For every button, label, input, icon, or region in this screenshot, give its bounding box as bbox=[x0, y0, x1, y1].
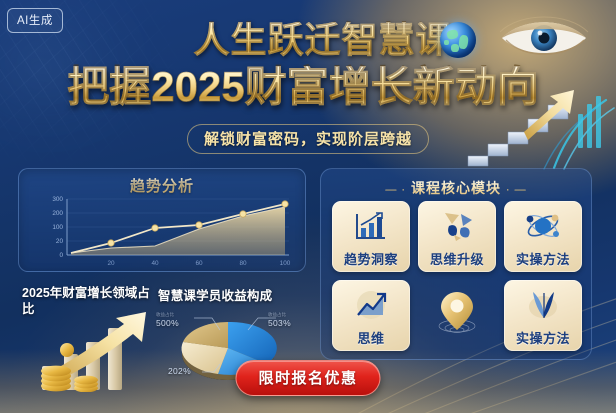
svg-text:20: 20 bbox=[107, 260, 115, 267]
svg-text:40: 40 bbox=[151, 260, 159, 267]
module-label-1: 思维升级 bbox=[430, 249, 484, 268]
module-label-0: 趋势洞察 bbox=[344, 249, 398, 268]
svg-text:100: 100 bbox=[52, 224, 63, 231]
trend-analysis-panel: 趋势分析 300200 10020 bbox=[18, 168, 306, 272]
svg-text:0: 0 bbox=[59, 252, 63, 259]
bar-chart-growth-icon bbox=[332, 207, 410, 245]
svg-text:80: 80 bbox=[239, 260, 247, 267]
svg-text:300: 300 bbox=[52, 196, 63, 203]
module-grid: 趋势洞察 思维升级 bbox=[332, 201, 582, 351]
module-card-location-pin[interactable] bbox=[418, 280, 496, 351]
y-axis-ticks: 300200 10020 0 bbox=[52, 196, 63, 259]
page-title-line2: 把握2025财富增长新动向 bbox=[0, 66, 616, 108]
core-modules-panel: — · 课程核心模块 · — 趋势洞察 bbox=[320, 168, 592, 360]
abstract-shapes-icon bbox=[418, 207, 496, 245]
title-dash-right: · — bbox=[506, 184, 527, 196]
trend-analysis-title: 趋势分析 bbox=[19, 175, 305, 196]
page-subtitle: 解锁财富密码，实现阶层跨越 bbox=[187, 124, 429, 154]
pie-label-1: 收益占比503% bbox=[268, 312, 291, 328]
core-modules-title: — · 课程核心模块 · — bbox=[321, 178, 591, 198]
svg-text:60: 60 bbox=[195, 260, 203, 267]
globe-icon bbox=[440, 22, 476, 58]
module-card-trend-insight[interactable]: 趋势洞察 bbox=[332, 201, 410, 272]
location-pin-icon bbox=[432, 288, 482, 340]
ai-generated-badge: AI生成 bbox=[7, 8, 63, 33]
trend-line-chart: 300200 10020 0 2040 6080 100 bbox=[27, 195, 299, 269]
wealth-growth-heading: 2025年财富增长领域占比 bbox=[22, 286, 162, 317]
title-dash-left: — · bbox=[385, 184, 406, 196]
x-axis-ticks: 2040 6080 100 bbox=[107, 260, 290, 267]
core-modules-title-text: 课程核心模块 bbox=[411, 180, 501, 196]
line-arrow-up-icon bbox=[332, 286, 410, 324]
module-label-5: 实操方法 bbox=[516, 328, 570, 347]
pie-chart-heading: 智慧课学员收益构成 bbox=[158, 285, 308, 304]
module-card-practical-method-bottom[interactable]: 实操方法 bbox=[504, 280, 582, 351]
svg-text:100: 100 bbox=[280, 260, 291, 267]
module-card-mindset-upgrade[interactable]: 思维升级 bbox=[418, 201, 496, 272]
module-card-practical-method-top[interactable]: 实操方法 bbox=[504, 201, 582, 272]
svg-text:20: 20 bbox=[56, 238, 64, 245]
module-card-thinking[interactable]: 思维 bbox=[332, 280, 410, 351]
module-label-2: 实操方法 bbox=[516, 249, 570, 268]
poster-canvas: AI生成 bbox=[0, 0, 616, 413]
svg-text:200: 200 bbox=[52, 210, 63, 217]
page-title-line1: 人生跃迁智慧课 bbox=[0, 22, 616, 58]
blue-leaf-check-icon bbox=[504, 286, 582, 324]
atom-network-icon bbox=[504, 207, 582, 245]
pie-label-2: 202% bbox=[168, 366, 191, 376]
module-label-3: 思维 bbox=[357, 328, 384, 347]
cta-button[interactable]: 限时报名优惠 bbox=[235, 360, 380, 396]
